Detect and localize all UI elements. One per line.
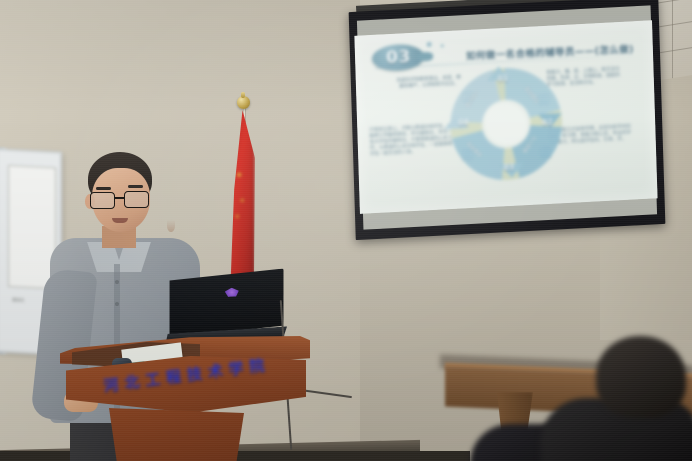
mouth (112, 218, 128, 223)
eyeglasses-icon (90, 192, 152, 208)
cycle-number-3: 03 (503, 163, 514, 173)
projection-screen[interactable]: 03 如何做一名合格的辅导员——(怎么做) 热爱科学和教育事业，关爱、尊重和尊严… (349, 0, 666, 240)
podium-column (100, 408, 250, 461)
slide-text-bottom-left: 只有树立爱心，才能以真诚对待学生，才能把工作做得更好。作为辅导员，作为一名大学生… (369, 123, 453, 157)
laptop-lid (166, 269, 288, 338)
cycle-number-2: 02 (542, 118, 553, 128)
cycle-number-4: 04 (458, 118, 469, 128)
nose (167, 220, 175, 232)
flag-finial-icon (237, 96, 250, 109)
cycle-diagram: 01 02 03 04 爱岗敬业 为人师表 关爱学生 教书育人 (449, 65, 564, 183)
photo-scene: 通知栏 03 如何做一名合格的辅导员——(怎么做) 热爱科学和教育事业，关爱、尊… (0, 0, 692, 461)
podium[interactable]: 河北工程技术学院 (60, 330, 310, 461)
cycle-number-1: 01 (498, 74, 509, 84)
projected-slide: 03 如何做一名合格的辅导员——(怎么做) 热爱科学和教育事业，关爱、尊重和尊严… (354, 20, 657, 214)
audience-member-head (596, 336, 686, 418)
slide-content: 03 如何做一名合格的辅导员——(怎么做) 热爱科学和教育事业，关爱、尊重和尊严… (354, 20, 657, 214)
